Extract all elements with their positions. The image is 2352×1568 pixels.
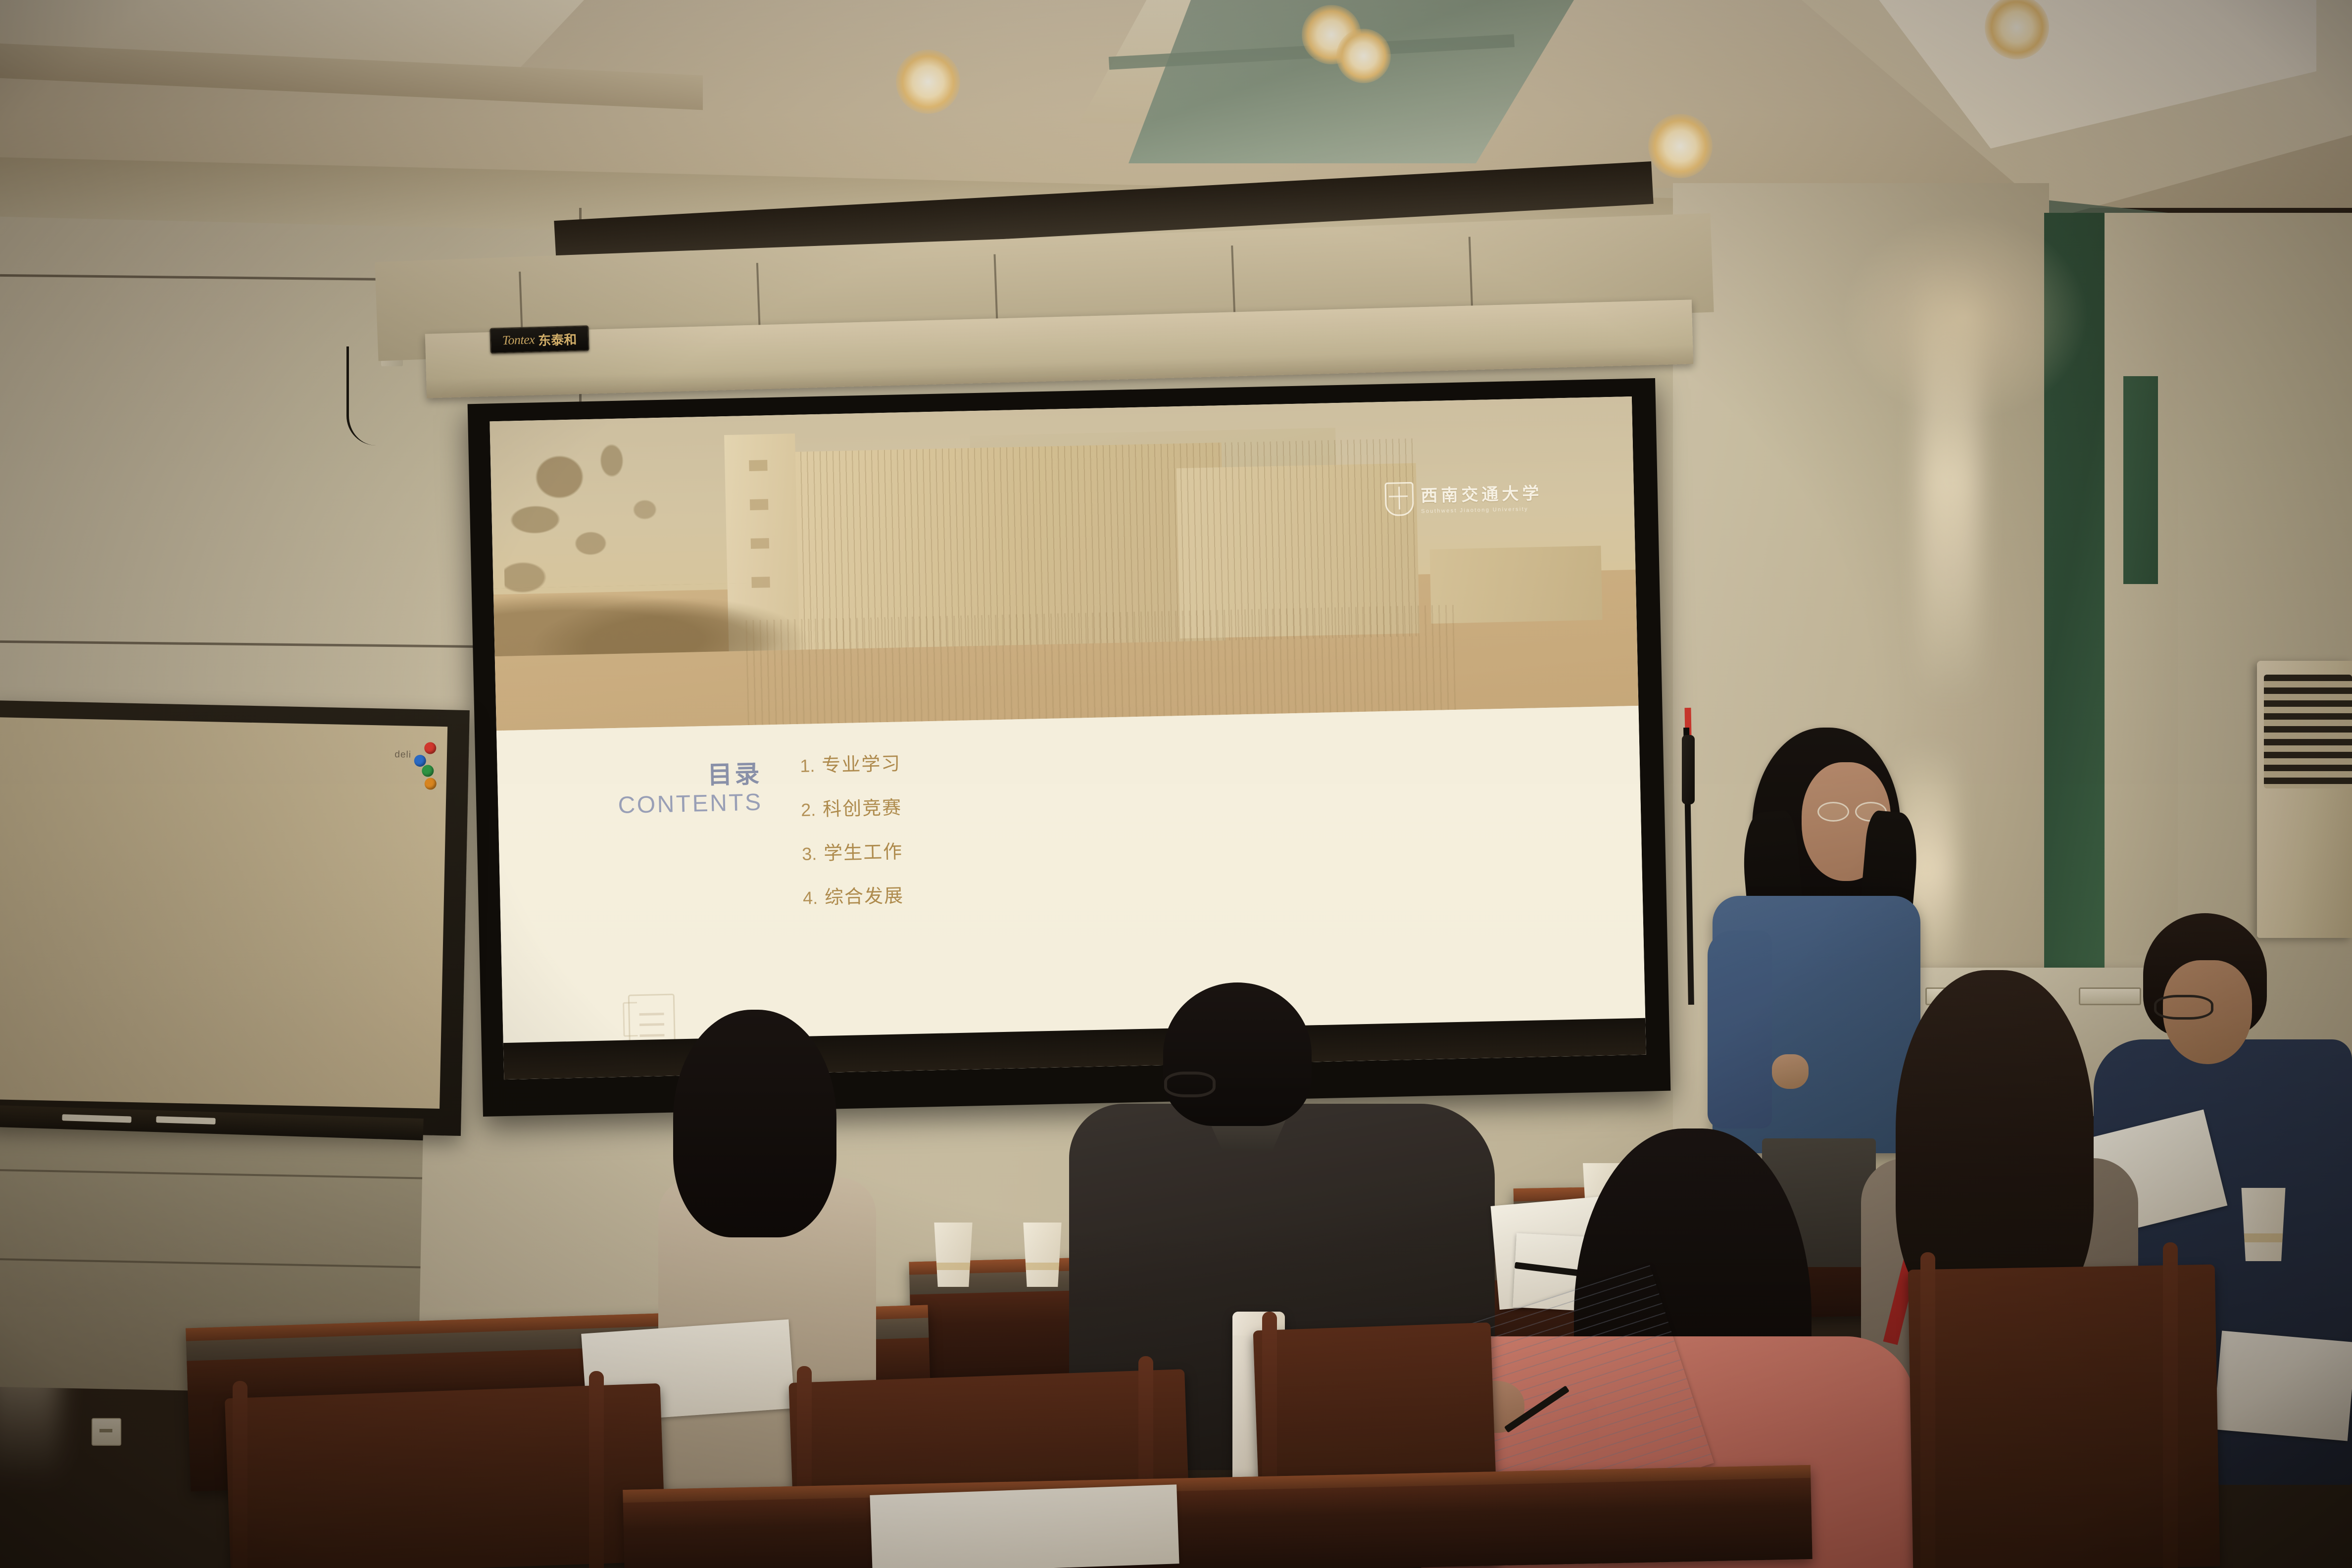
slide-heading-en: CONTENTS [618,788,763,819]
housing-divider [1469,237,1473,311]
housing-divider [994,254,998,329]
chair-post [589,1371,604,1568]
list-item-label: 科创竞赛 [823,792,902,821]
wall-cable [346,346,393,445]
paper-cup[interactable] [1020,1223,1065,1287]
housing-divider [1231,245,1235,320]
whiteboard-surface[interactable]: deli [0,717,447,1109]
student-1-hair [673,1010,836,1237]
pillar-green [2044,213,2105,985]
slide-contents-list: 1. 专业学习 2. 科创竞赛 3. 学生工作 4. [800,748,905,926]
slide-heading-cn: 目录 [617,760,762,790]
presentation-slide: 西南交通大学 Southwest Jiaotong University 目录 … [490,396,1646,1079]
university-name-cn: 西南交通大学 [1421,480,1543,506]
power-outlet[interactable] [92,1418,121,1446]
brand-chinese-label: 东泰和 [538,329,577,348]
whiteboard[interactable]: deli [0,700,470,1136]
list-item-label: 综合发展 [824,880,904,909]
magnet-blue[interactable] [414,755,426,767]
air-conditioner-louvers [2264,675,2352,788]
whiteboard-marker[interactable] [156,1116,215,1125]
ceiling-downlight [1336,29,1391,83]
list-item-number: 4. [803,887,818,909]
list-item: 4. 综合发展 [802,880,904,909]
air-conditioner-unit[interactable] [2257,661,2352,938]
pillar-beige [2104,213,2178,955]
cabinet-handle[interactable] [2079,987,2141,1005]
whiteboard-brand-label: deli [394,749,411,761]
handout-paper[interactable] [870,1484,1179,1568]
list-item-number: 1. [800,755,815,777]
list-item-label: 学生工作 [824,836,903,865]
list-item: 2. 科创竞赛 [801,792,902,821]
pillar-green-secondary [2123,376,2158,584]
university-crest-icon [1385,482,1414,516]
classroom-scene: Tontex 东泰和 [0,0,2352,1568]
presenter-arm [1708,931,1772,1128]
whiteboard-marker[interactable] [62,1114,131,1123]
chair-post [233,1381,247,1568]
projector-brand-plate: Tontex 东泰和 [490,325,589,354]
student-5-glasses-icon [2154,995,2213,1020]
magnet-red[interactable] [424,742,436,754]
list-item-label: 专业学习 [822,748,901,777]
ceiling-downlight [896,49,960,114]
ceiling-downlight [1648,114,1713,178]
chair-post [2163,1242,2178,1568]
list-item-number: 3. [802,843,817,865]
magnet-orange[interactable] [425,778,437,789]
list-item: 3. 学生工作 [801,836,903,865]
student-2-hair [1163,982,1312,1126]
presenter-hand [1772,1054,1809,1089]
brand-latin-label: Tontex [502,332,535,348]
list-item-number: 2. [801,799,816,821]
student-2-glasses-icon [1164,1072,1216,1097]
projection-screen-frame: 西南交通大学 Southwest Jiaotong University 目录 … [468,378,1671,1117]
magnet-green[interactable] [422,765,434,777]
chair-post [1920,1252,1935,1568]
paper-cup[interactable] [931,1223,976,1287]
list-item: 1. 专业学习 [800,748,901,777]
university-logo: 西南交通大学 Southwest Jiaotong University [1385,479,1543,516]
projection-screen-surface[interactable]: 西南交通大学 Southwest Jiaotong University 目录 … [490,396,1646,1079]
wall-light-glow [1920,257,1980,703]
paper-cup[interactable] [2237,1188,2290,1261]
slide-header-photo: 西南交通大学 Southwest Jiaotong University [490,396,1638,731]
photo-water-reflection [745,605,1456,726]
handout-paper[interactable] [2213,1331,2352,1441]
slide-heading-block: 目录 CONTENTS [617,760,763,819]
pointer-grip[interactable] [1682,735,1695,804]
